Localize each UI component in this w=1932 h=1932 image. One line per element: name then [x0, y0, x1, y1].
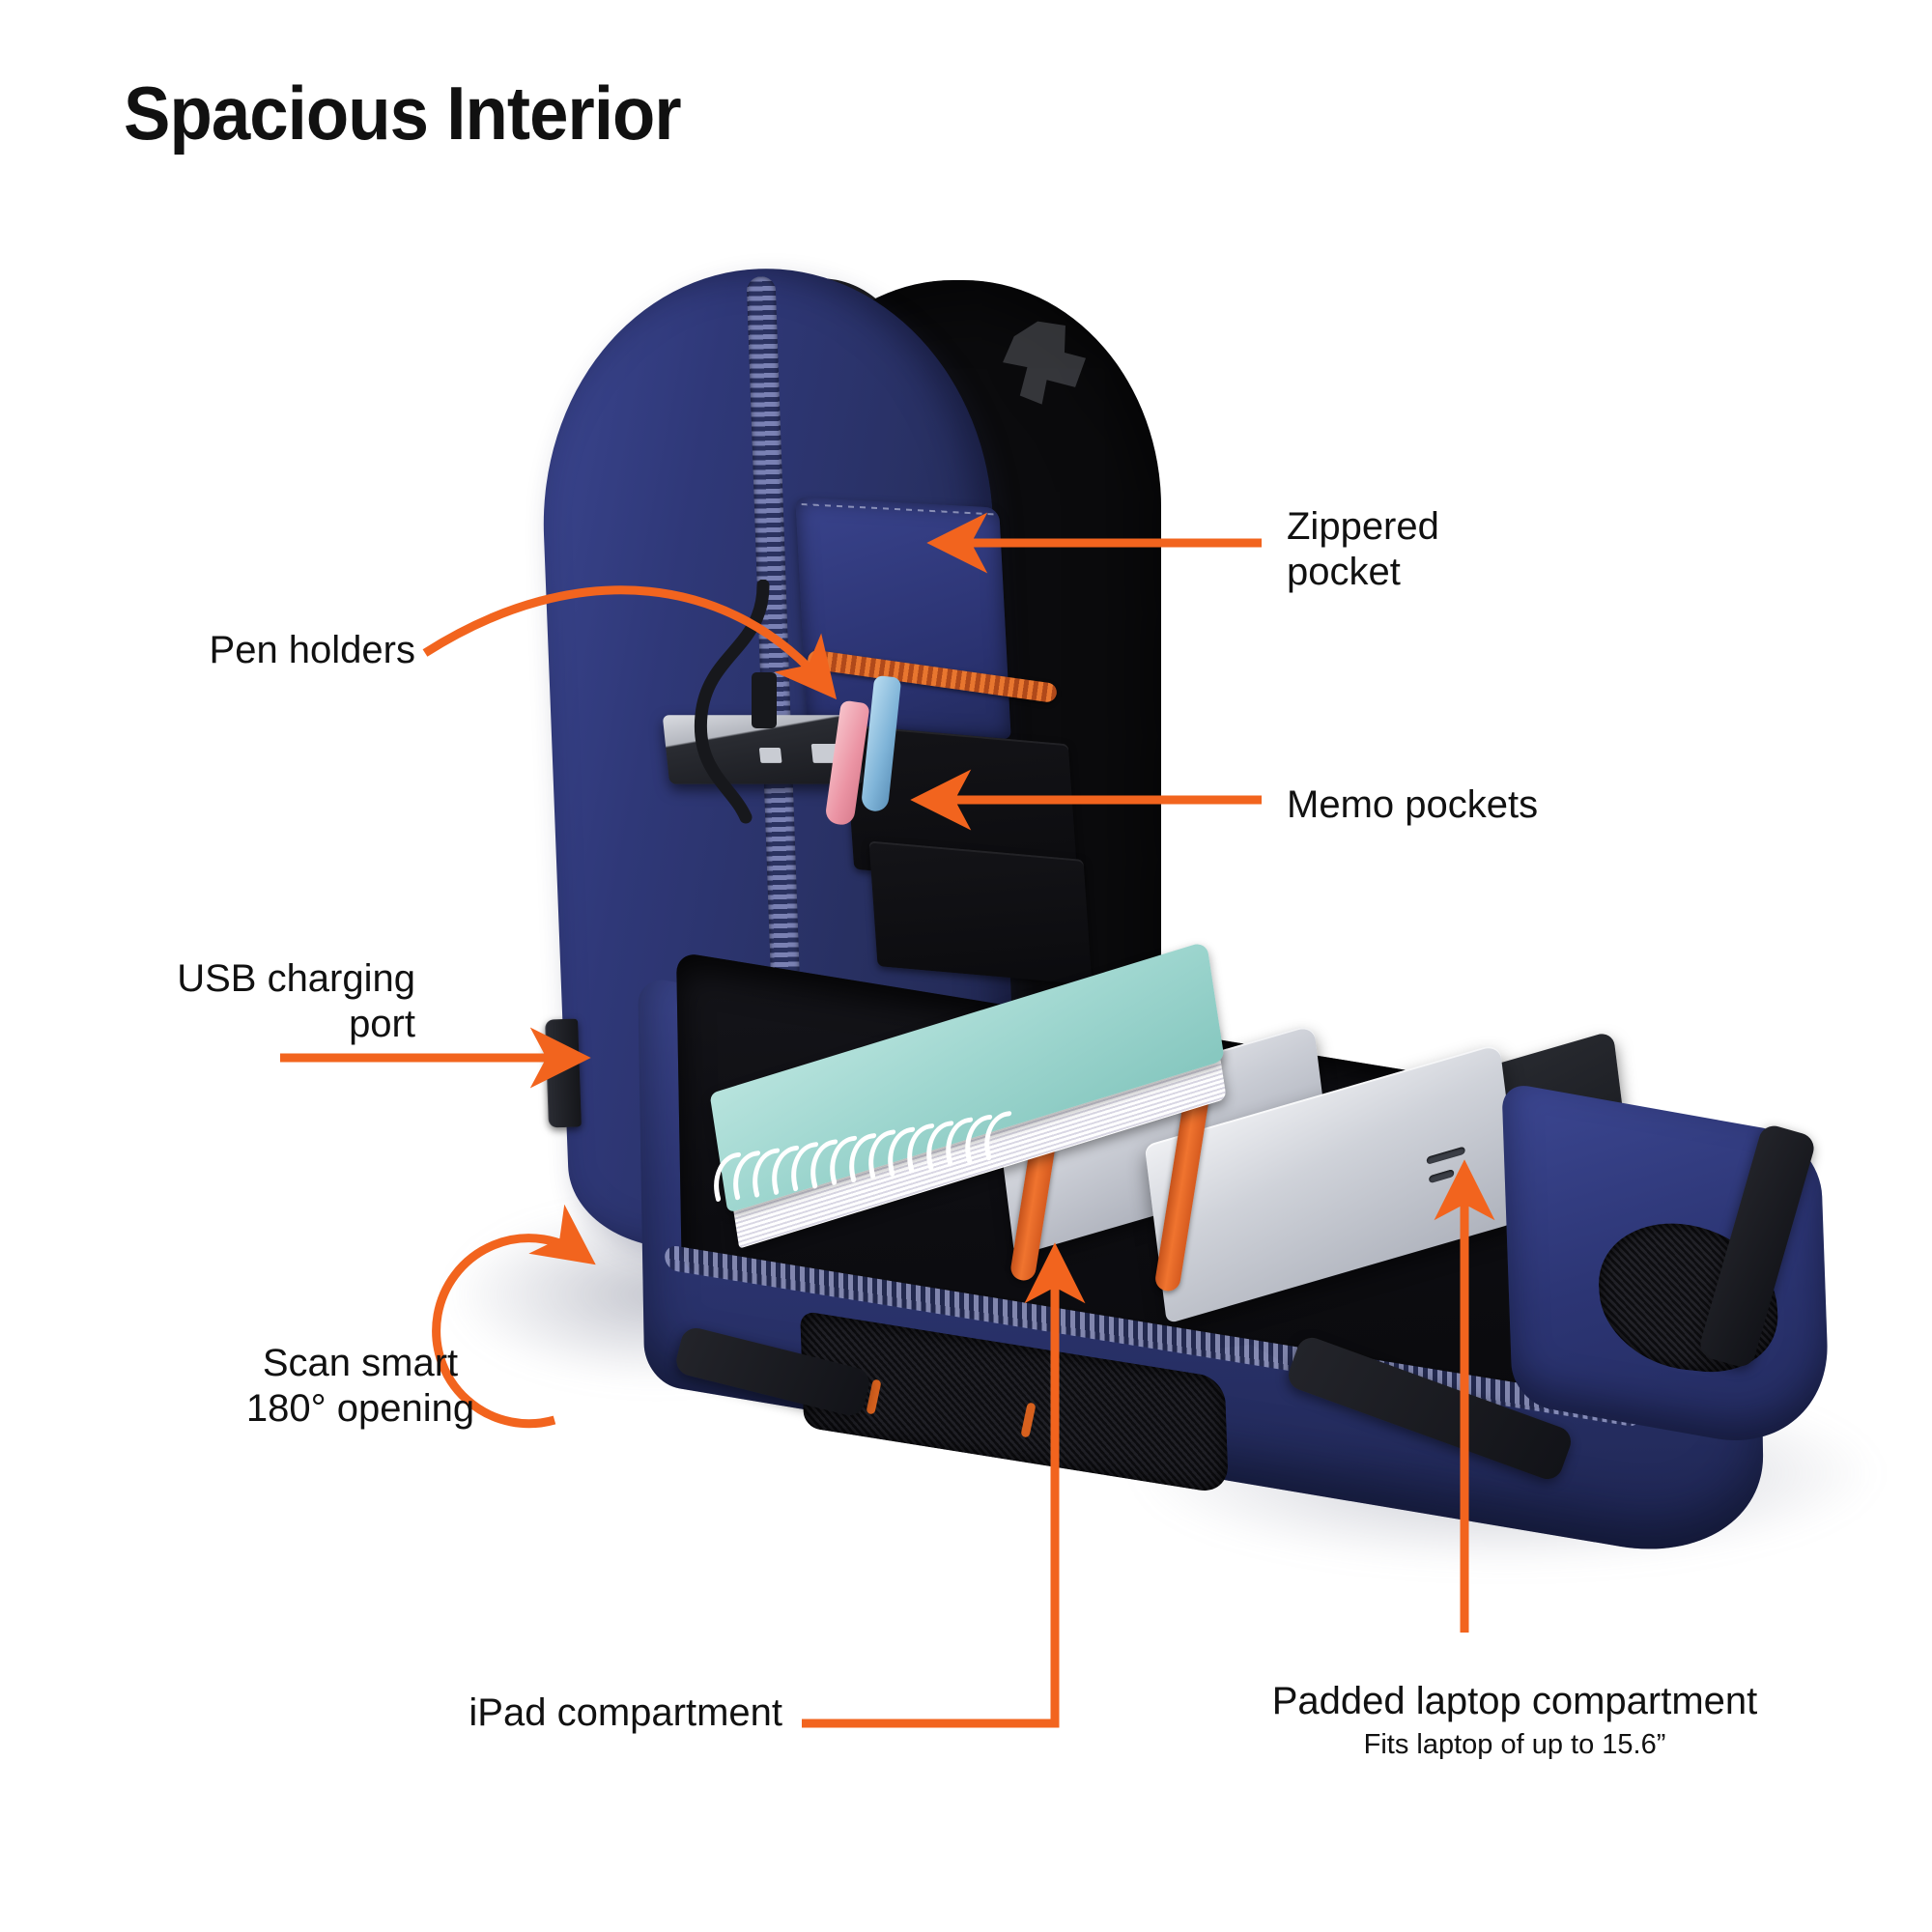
callout-sublabel-padded-laptop-compartment: Fits laptop of up to 15.6” [1177, 1728, 1853, 1762]
laptop-port-1 [1426, 1147, 1465, 1165]
callout-group-padded-laptop-compartment: Padded laptop compartment Fits laptop of… [1177, 1679, 1853, 1762]
infographic-canvas: Spacious Interior [0, 0, 1932, 1932]
callout-label-padded-laptop-compartment: Padded laptop compartment [1177, 1679, 1853, 1724]
callout-label-memo-pockets: Memo pockets [1287, 782, 1538, 828]
callout-label-ipad-compartment: iPad compartment [290, 1690, 782, 1736]
callout-label-zippered-pocket: Zippered pocket [1287, 504, 1439, 595]
callout-label-pen-holders: Pen holders [155, 628, 415, 673]
callout-label-usb-charging-port: USB charging port [97, 956, 415, 1047]
laptop-port-2 [1429, 1169, 1455, 1183]
usb-charging-port [545, 1018, 582, 1127]
callout-label-scan-smart-opening: Scan smart 180° opening [201, 1341, 520, 1432]
